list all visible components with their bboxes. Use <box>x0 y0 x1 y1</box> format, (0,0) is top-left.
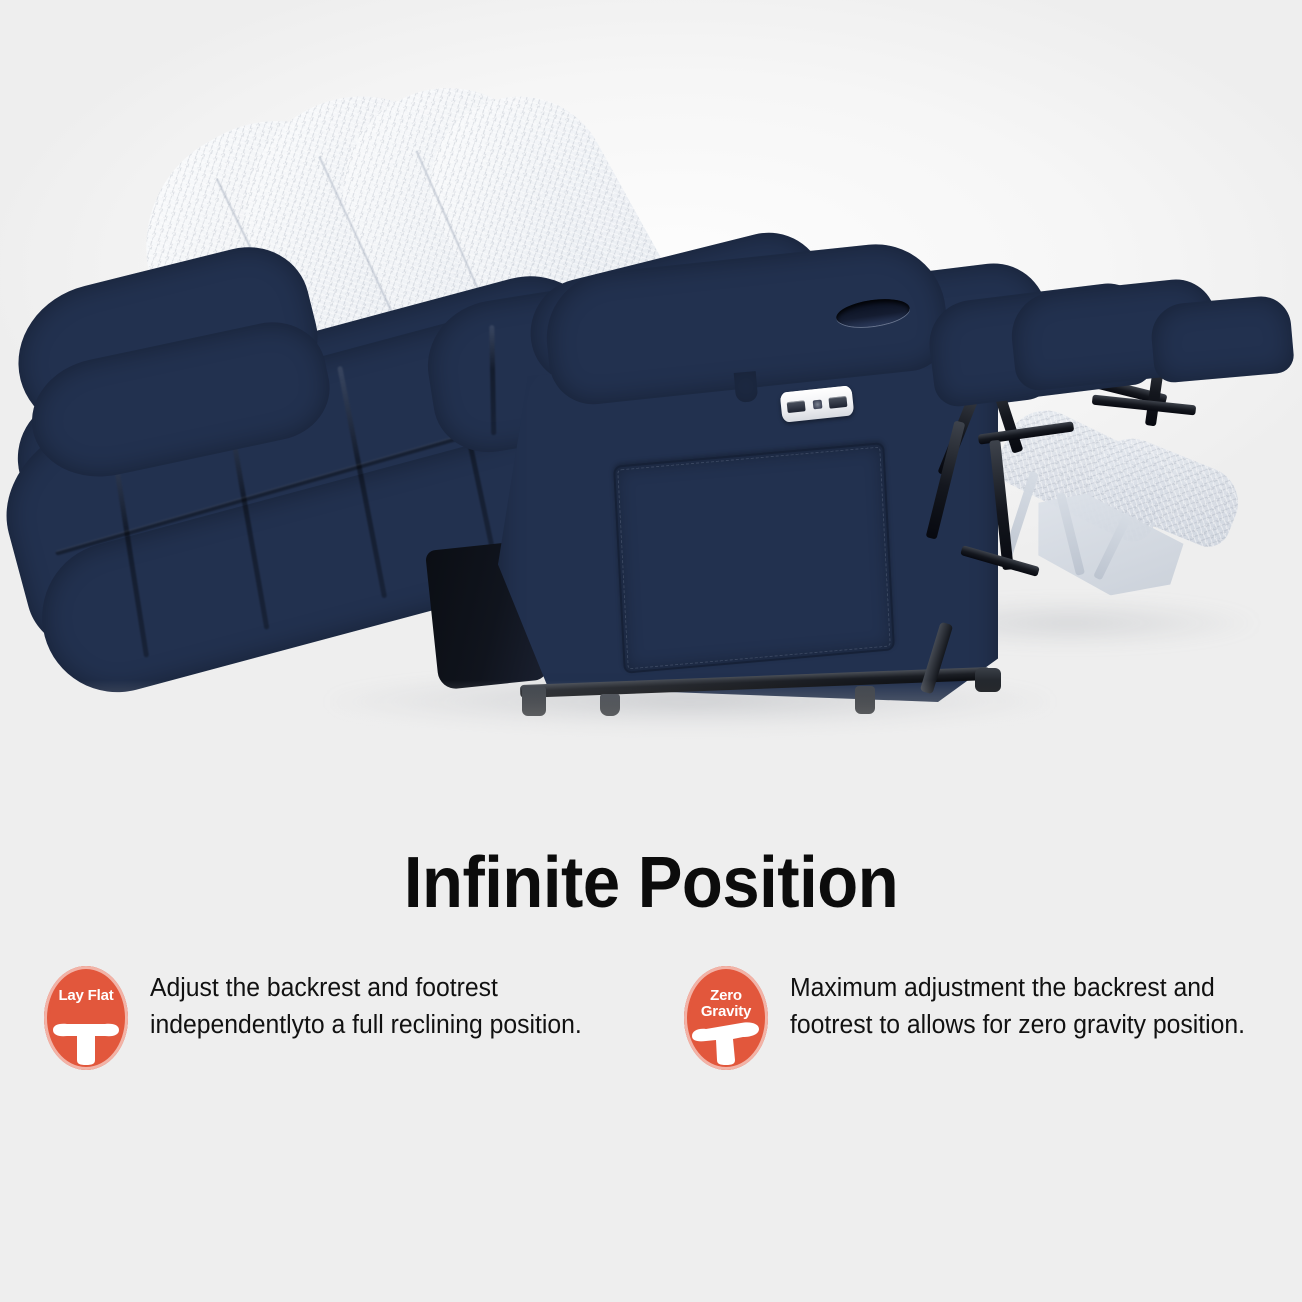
lay-flat-badge: Lay Flat <box>44 966 128 1070</box>
lay-flat-chair-icon <box>51 1022 121 1066</box>
zero-gravity-description: Maximum adjustment the backrest and foot… <box>790 966 1246 1044</box>
hero-bottom-fade <box>0 680 1302 800</box>
zero-gravity-badge: Zero Gravity <box>684 966 768 1070</box>
lay-flat-description: Adjust the backrest and footrest indepen… <box>150 966 606 1044</box>
usb-port <box>812 399 822 409</box>
zero-gravity-badge-label: Zero Gravity <box>701 988 751 1020</box>
footrest-button[interactable] <box>828 395 847 408</box>
feature-list: Lay Flat Adjust the backrest and footres… <box>0 966 1302 1070</box>
footrest-pad-outer <box>1149 294 1295 384</box>
near-armrest <box>468 258 1008 708</box>
feature-item-zero-gravity: Zero Gravity Maximum adjustment the back… <box>684 966 1260 1070</box>
feature-item-lay-flat: Lay Flat Adjust the backrest and footres… <box>44 966 620 1070</box>
side-storage-pocket <box>613 442 895 674</box>
product-hero-image <box>0 0 1302 800</box>
zero-gravity-chair-icon <box>691 1022 761 1066</box>
page-title: Infinite Position <box>46 842 1257 924</box>
manual-release-strap <box>734 371 759 403</box>
product-feature-page: Infinite Position Lay Flat Adjust the ba… <box>0 0 1302 1302</box>
recline-button[interactable] <box>787 400 806 413</box>
lay-flat-badge-label: Lay Flat <box>58 988 113 1004</box>
